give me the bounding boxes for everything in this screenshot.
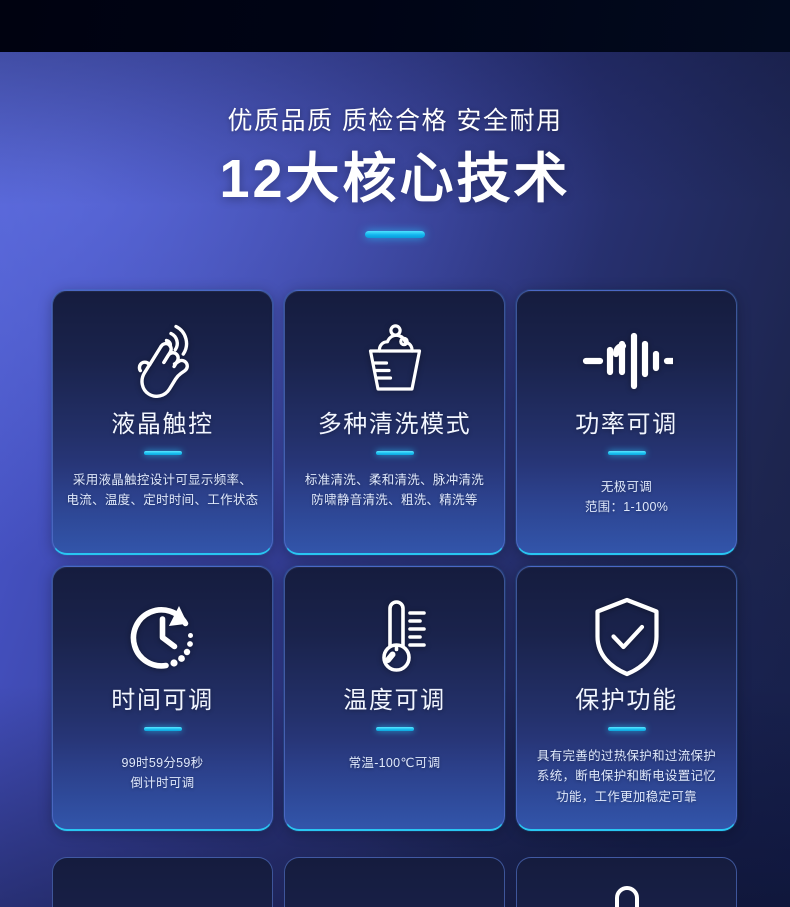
card-description: 具有完善的过热保护和过流保护 系统，断电保护和断电设置记忆 功能，工作更加稳定可…: [524, 746, 729, 808]
product-feature-page: 优质品质 质检合格 安全耐用 12大核心技术 液晶触控 采用液晶触控: [0, 0, 790, 907]
card-description: 99时59分59秒 倒计时可调: [60, 753, 265, 794]
card-accent-bar: [144, 727, 182, 731]
page-header: 优质品质 质检合格 安全耐用 12大核心技术: [0, 52, 790, 238]
feature-card[interactable]: [284, 857, 505, 907]
card-description: 标准清洗、柔和清洗、脉冲清洗 防啸静音清洗、粗洗、精洗等: [292, 470, 497, 511]
feature-card[interactable]: 时间可调 99时59分59秒 倒计时可调: [52, 566, 273, 831]
clock-timer-icon: [122, 595, 204, 679]
card-accent-bar: [376, 727, 414, 731]
feature-card[interactable]: [516, 857, 737, 907]
header-subtitle: 优质品质 质检合格 安全耐用: [0, 106, 790, 136]
feature-card[interactable]: [52, 857, 273, 907]
feature-card[interactable]: 功率可调 无极可调 范围：1-100%: [516, 290, 737, 555]
feature-card[interactable]: 多种清洗模式 标准清洗、柔和清洗、脉冲清洗 防啸静音清洗、粗洗、精洗等: [284, 290, 505, 555]
card-title: 保护功能: [575, 687, 677, 716]
card-accent-bar: [144, 451, 182, 455]
top-dark-band: [0, 0, 790, 52]
feature-card[interactable]: 温度可调 常温-100℃可调: [284, 566, 505, 831]
card-accent-bar: [608, 451, 646, 455]
card-description: 采用液晶触控设计可显示频率、 电流、温度、定时时间、工作状态: [60, 470, 265, 511]
feature-card-grid-partial: [52, 857, 740, 907]
card-title: 多种清洗模式: [318, 411, 472, 440]
card-accent-bar: [608, 727, 646, 731]
card-title: 功率可调: [575, 411, 677, 440]
touch-gesture-icon: [127, 319, 199, 403]
thermometer-icon: [362, 595, 428, 679]
wash-basin-bubbles-icon: [355, 319, 435, 403]
card-title: 时间可调: [111, 687, 213, 716]
feature-card-grid: 液晶触控 采用液晶触控设计可显示频率、 电流、温度、定时时间、工作状态 多种清洗…: [52, 290, 740, 831]
card-title: 液晶触控: [111, 411, 213, 440]
feature-card[interactable]: 保护功能 具有完善的过热保护和过流保护 系统，断电保护和断电设置记忆 功能，工作…: [516, 566, 737, 831]
partial-device-icon: [603, 886, 651, 907]
card-description: 无极可调 范围：1-100%: [524, 477, 729, 518]
card-description: 常温-100℃可调: [292, 753, 497, 774]
shield-check-icon: [589, 595, 665, 679]
card-title: 温度可调: [343, 687, 445, 716]
card-accent-bar: [376, 451, 414, 455]
header-accent-bar: [365, 231, 425, 238]
page-title: 12大核心技术: [0, 148, 790, 210]
waveform-equalizer-icon: [581, 319, 673, 403]
feature-card[interactable]: 液晶触控 采用液晶触控设计可显示频率、 电流、温度、定时时间、工作状态: [52, 290, 273, 555]
